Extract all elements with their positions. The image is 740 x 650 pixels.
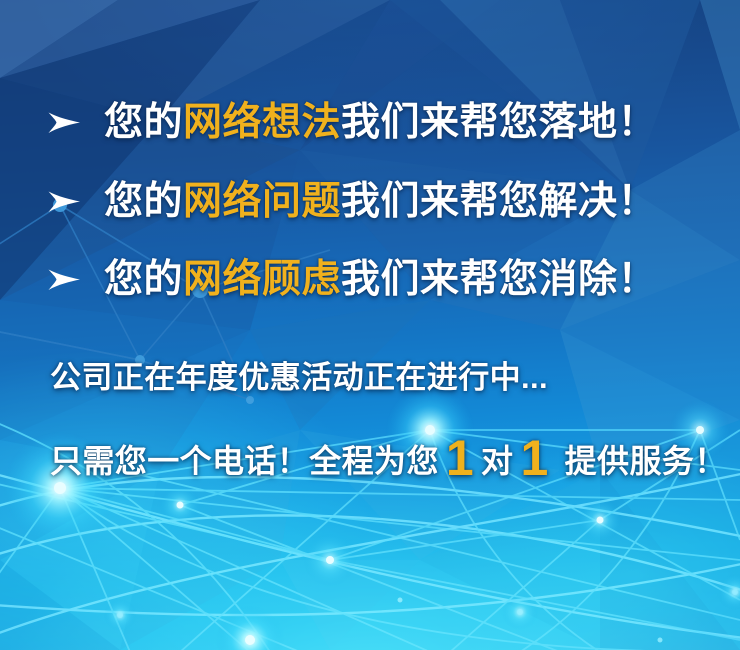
- service-number-first: 1: [439, 433, 481, 483]
- headline-highlight-1: 网络想法: [183, 101, 341, 144]
- headline-prefix-1: 您的: [104, 101, 183, 144]
- headline-prefix-3: 您的: [104, 258, 183, 301]
- promo-subline: 公司正在年度优惠活动正在进行中...: [50, 362, 548, 393]
- headline-highlight-2: 网络问题: [183, 180, 341, 223]
- service-number-second: 1: [513, 433, 555, 483]
- headline-row-2: 您的网络问题我们来帮您解决！: [46, 182, 657, 221]
- service-text-part2: 提供服务！: [565, 445, 727, 477]
- headline-suffix-3: 我们来帮您消除！: [341, 258, 657, 301]
- service-subline: 只需您一个电话！全程为您1对1提供服务！: [50, 430, 727, 480]
- headline-row-3: 您的网络顾虑我们来帮您消除！: [46, 260, 657, 299]
- headline-text-2: 您的网络问题我们来帮您解决！: [104, 182, 657, 221]
- headline-text-3: 您的网络顾虑我们来帮您消除！: [104, 260, 657, 299]
- service-text-part1: 只需您一个电话！全程为您: [50, 445, 439, 477]
- headline-suffix-1: 我们来帮您落地！: [341, 101, 657, 144]
- banner-content: 您的网络想法我们来帮您落地！ 您的网络问题我们来帮您解决！ 您的网络顾虑我们来帮…: [0, 0, 740, 650]
- headline-prefix-2: 您的: [104, 180, 183, 223]
- headline-suffix-2: 我们来帮您解决！: [341, 180, 657, 223]
- arrow-right-icon: [46, 185, 82, 219]
- arrow-right-icon: [46, 106, 82, 140]
- service-connector: 对: [481, 445, 513, 477]
- headline-text-1: 您的网络想法我们来帮您落地！: [104, 103, 657, 142]
- promo-banner: 您的网络想法我们来帮您落地！ 您的网络问题我们来帮您解决！ 您的网络顾虑我们来帮…: [0, 0, 740, 650]
- arrow-right-icon: [46, 263, 82, 297]
- headline-highlight-3: 网络顾虑: [183, 258, 341, 301]
- headline-row-1: 您的网络想法我们来帮您落地！: [46, 103, 657, 142]
